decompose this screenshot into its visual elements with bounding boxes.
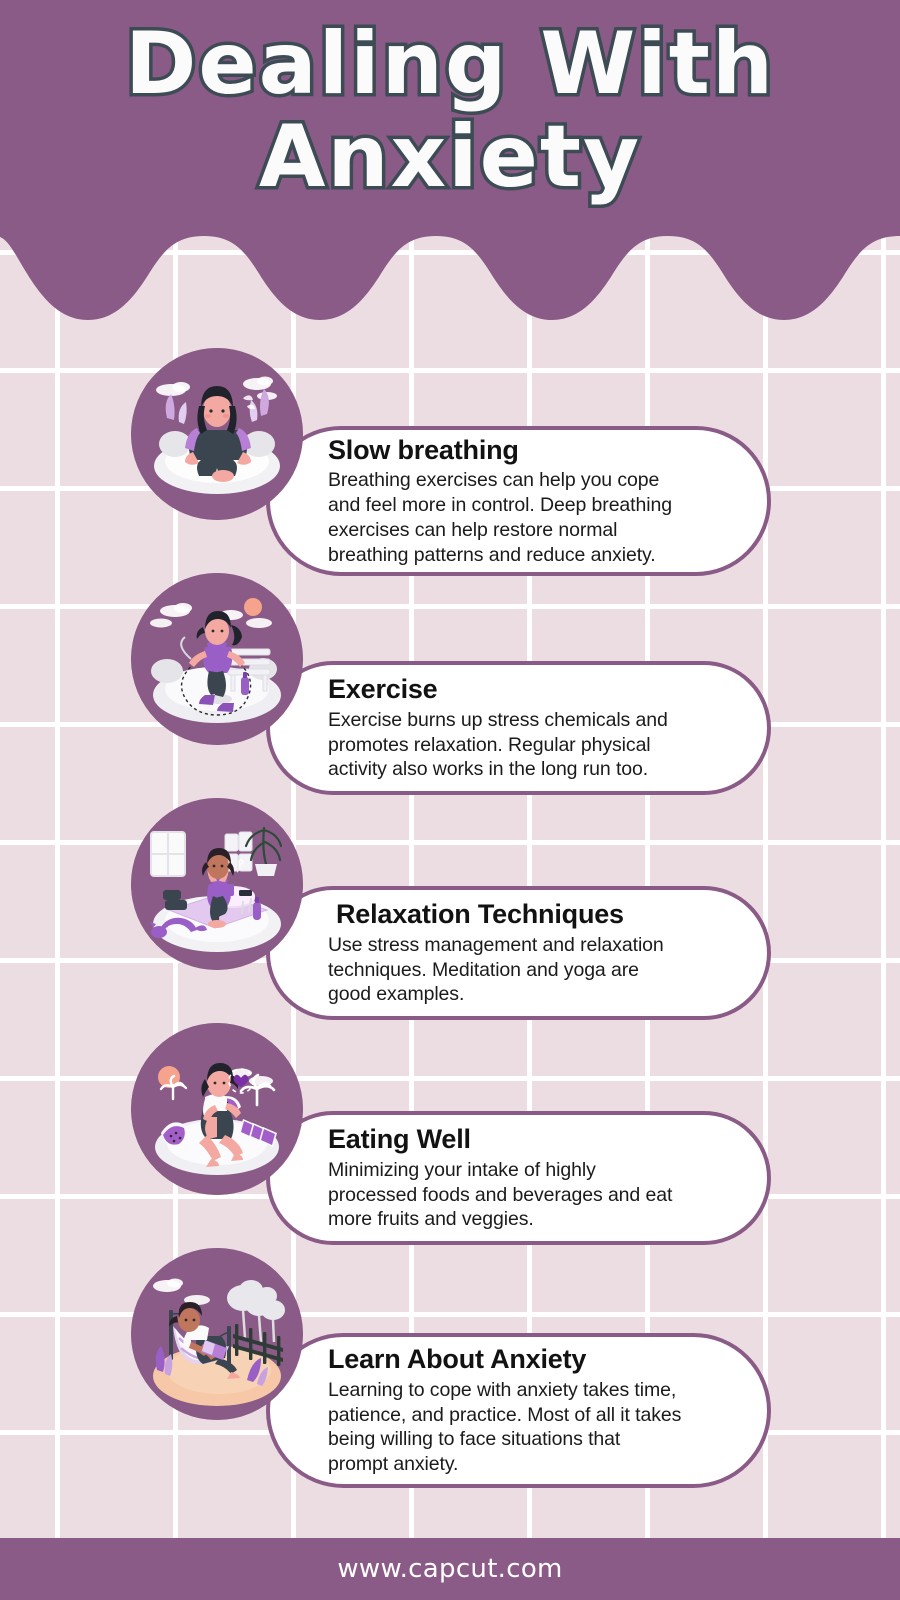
illustration-circle-meditation — [131, 348, 303, 520]
tip-title-3: Relaxation Techniques — [328, 899, 733, 931]
woman-reading-book-in-hammock-icon — [131, 1248, 303, 1420]
infographic-poster: Dealing With Anxiety — [0, 0, 900, 1600]
poster-header: Dealing With Anxiety — [0, 0, 900, 340]
illustration-circle-exercise — [131, 573, 303, 745]
tip-title-5: Learn About Anxiety — [328, 1344, 733, 1376]
tip-card-1[interactable]: Slow breathing Breathing exercises can h… — [266, 426, 771, 576]
poster-footer: www.capcut.com — [0, 1538, 900, 1600]
tip-card-5[interactable]: Learn About Anxiety Learning to cope wit… — [266, 1333, 771, 1488]
tip-body-2: Exercise burns up stress chemicals and p… — [328, 708, 733, 782]
tip-body-4: Minimizing your intake of highly process… — [328, 1158, 733, 1232]
woman-jumping-rope-in-park-icon — [131, 573, 303, 745]
header-wave-shape — [0, 0, 900, 340]
tip-card-2[interactable]: Exercise Exercise burns up stress chemic… — [266, 661, 771, 795]
tip-body-5: Learning to cope with anxiety takes time… — [328, 1378, 733, 1477]
illustration-circle-eating — [131, 1023, 303, 1195]
tip-body-3: Use stress management and relaxation tec… — [328, 933, 733, 1007]
woman-meditating-cross-legged-on-cloud-icon — [131, 348, 303, 520]
footer-url[interactable]: www.capcut.com — [337, 1554, 562, 1584]
illustration-circle-hammock — [131, 1248, 303, 1420]
tip-card-3[interactable]: Relaxation Techniques Use stress managem… — [266, 886, 771, 1020]
illustration-circle-yoga — [131, 798, 303, 970]
tip-card-4[interactable]: Eating Well Minimizing your intake of hi… — [266, 1111, 771, 1245]
tip-title-1: Slow breathing — [328, 435, 733, 467]
woman-doing-yoga-tree-pose-with-cat-icon — [131, 798, 303, 970]
tip-title-4: Eating Well — [328, 1124, 733, 1156]
woman-eating-watermelon-at-beach-icon — [131, 1023, 303, 1195]
tip-title-2: Exercise — [328, 674, 733, 706]
tip-body-1: Breathing exercises can help you cope an… — [328, 468, 733, 567]
